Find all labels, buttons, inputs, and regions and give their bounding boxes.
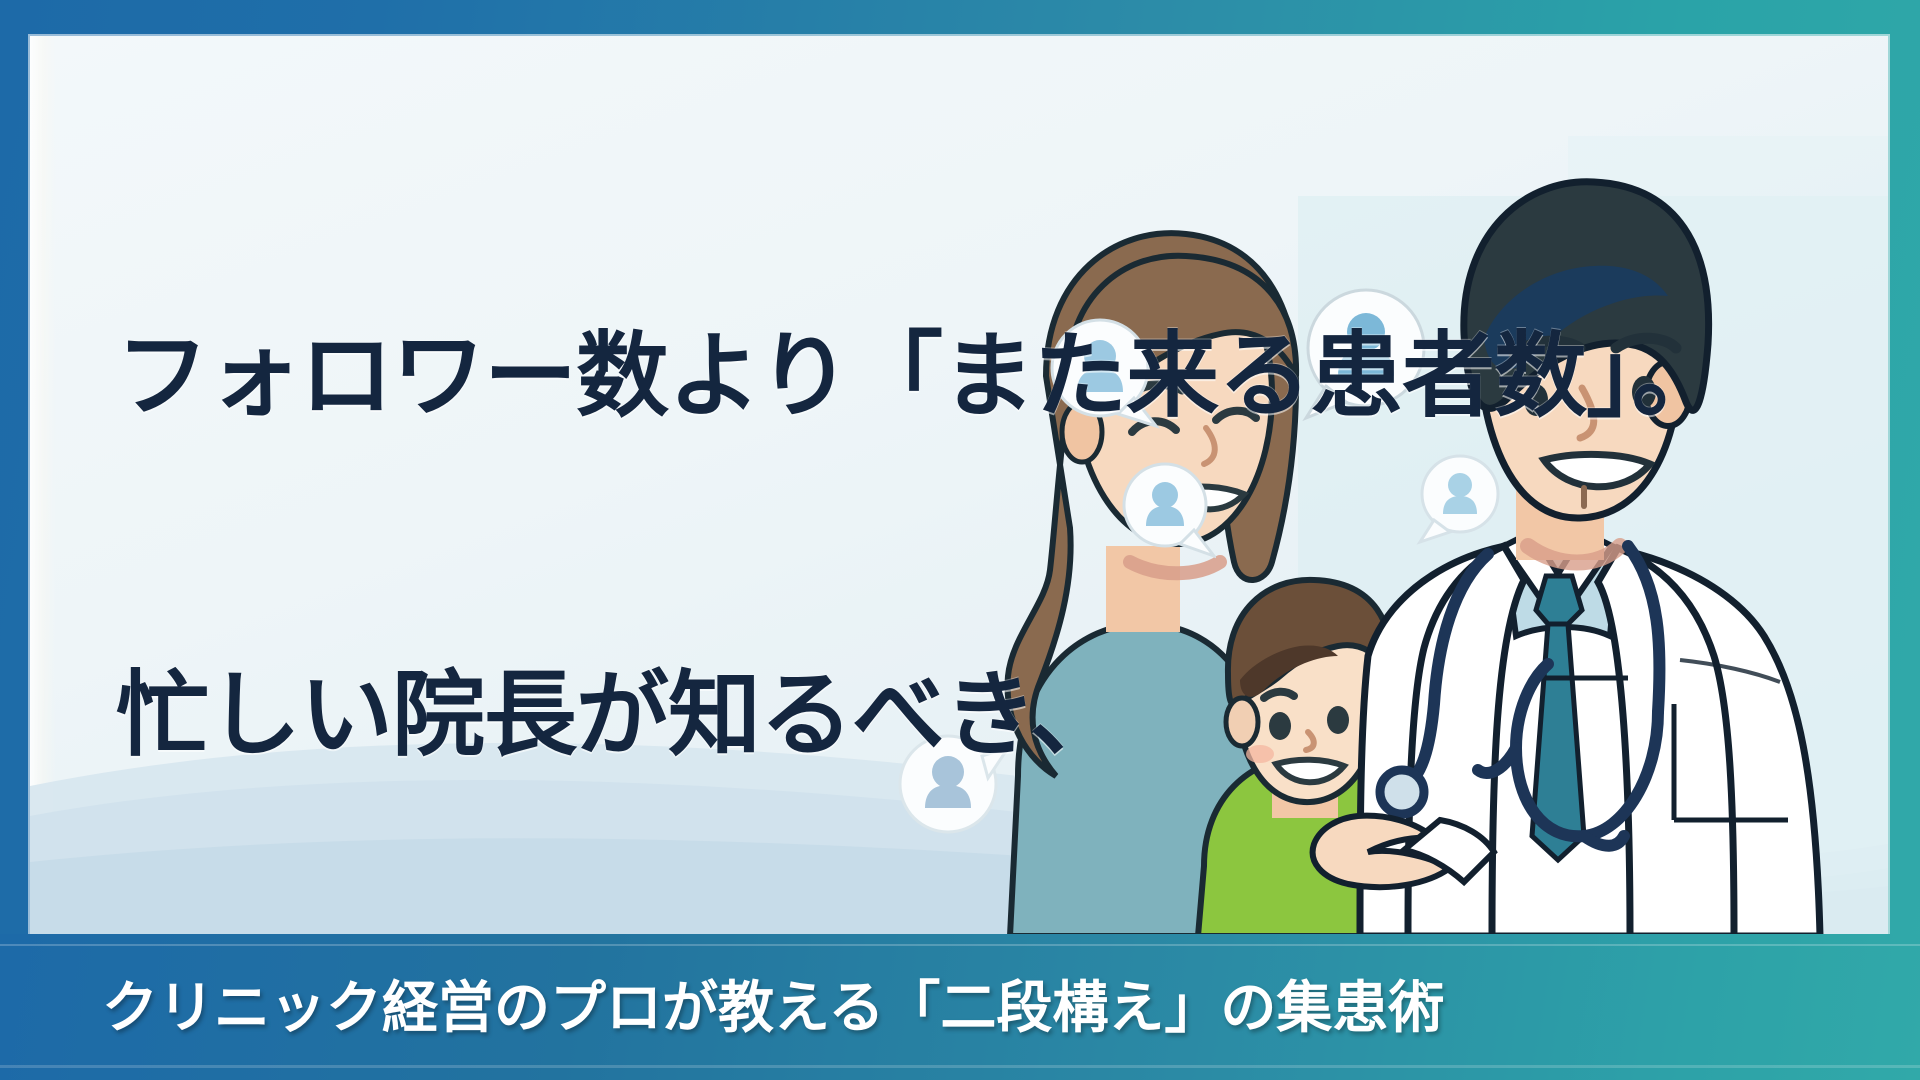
stethoscope-chestpiece — [1380, 770, 1424, 814]
page-title: フォロワー数より「また来る患者数」。 忙しい院長が知るべき、 SNSの本当の使い… — [116, 94, 1196, 936]
bubble-small-right — [1416, 452, 1502, 551]
banner-inner: クリニック経営のプロが教える「二段構え」の集患術 — [18, 940, 1902, 1066]
headline-line-2: 忙しい院長が知るべき、 — [116, 659, 1196, 772]
banner-bottom-rule — [0, 1065, 1920, 1068]
headline-line-1: フォロワー数より「また来る患者数」。 — [116, 320, 1196, 433]
banner-subtitle: クリニック経営のプロが教える「二段構え」の集患術 — [18, 963, 1444, 1044]
content-card: フォロワー数より「また来る患者数」。 忙しい院長が知るべき、 SNSの本当の使い… — [30, 36, 1888, 936]
bottom-banner: クリニック経営のプロが教える「二段構え」の集患術 — [0, 934, 1920, 1080]
outer-frame: フォロワー数より「また来る患者数」。 忙しい院長が知るべき、 SNSの本当の使い… — [0, 0, 1920, 1080]
